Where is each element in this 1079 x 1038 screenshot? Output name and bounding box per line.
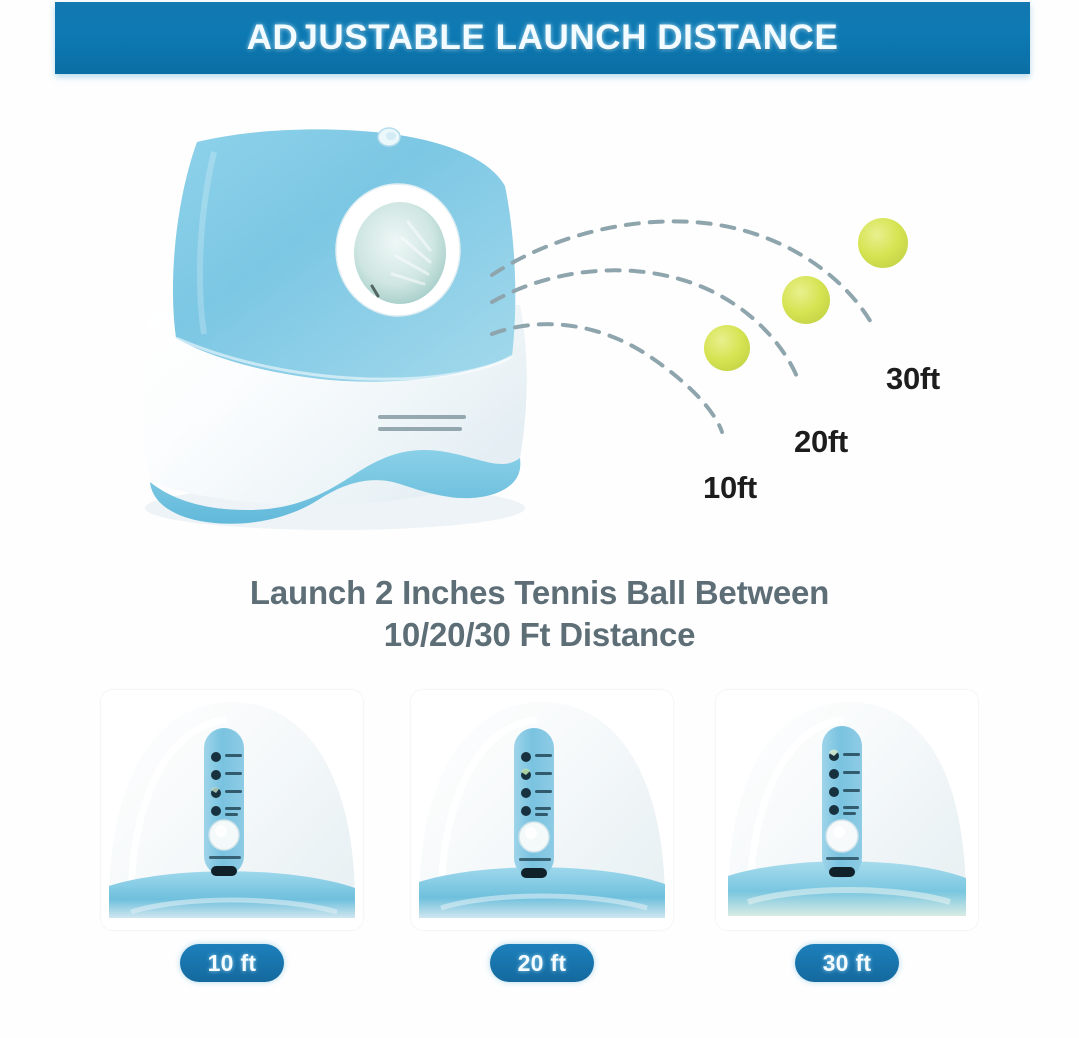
- thumbnail-badge-30ft: 30 ft: [795, 944, 899, 982]
- distance-thumbnail-row: 10 ft: [0, 690, 1079, 1000]
- caption-line-1: Launch 2 Inches Tennis Ball Between: [0, 572, 1079, 614]
- thumbnail-card-10ft[interactable]: 10 ft: [101, 690, 363, 982]
- thumbnail-badge-10ft: 10 ft: [180, 944, 284, 982]
- tennis-ball-30ft: [858, 218, 908, 268]
- usb-c-port-30ft: [829, 867, 855, 877]
- thumbnail-badge-label-10ft: 10 ft: [208, 950, 257, 977]
- thumbnail-image-20ft: [411, 690, 673, 930]
- launcher-diagram-svg: [0, 90, 1079, 560]
- launch-port-bore: [354, 202, 446, 304]
- device-rear-view-30ft: [716, 690, 978, 930]
- distance-label-20ft: 20ft: [794, 424, 848, 460]
- distance-label-30ft: 30ft: [886, 361, 940, 397]
- usb-c-port-10ft: [211, 866, 237, 876]
- caption-block: Launch 2 Inches Tennis Ball Between 10/2…: [0, 572, 1079, 656]
- tennis-ball-20ft: [782, 276, 830, 324]
- thumbnail-card-30ft[interactable]: 30 ft: [716, 690, 978, 982]
- thumbnail-image-10ft: [101, 690, 363, 930]
- tennis-ball-10ft: [704, 325, 750, 371]
- caption-line-2: 10/20/30 Ft Distance: [0, 614, 1079, 656]
- thumbnail-image-30ft: [716, 690, 978, 930]
- header-banner: ADJUSTABLE LAUNCH DISTANCE: [55, 2, 1030, 74]
- tennis-balls: [704, 218, 908, 371]
- device-rear-view-20ft: [411, 690, 673, 930]
- thumbnail-badge-20ft: 20 ft: [490, 944, 594, 982]
- thumbnail-badge-label-20ft: 20 ft: [518, 950, 567, 977]
- distance-label-10ft: 10ft: [703, 470, 757, 506]
- thumbnail-badge-label-30ft: 30 ft: [823, 950, 872, 977]
- page-title: ADJUSTABLE LAUNCH DISTANCE: [247, 18, 839, 58]
- device-rear-view-10ft: [101, 690, 363, 930]
- hero-illustration: 10ft 20ft 30ft: [0, 90, 1079, 560]
- thumbnail-card-20ft[interactable]: 20 ft: [411, 690, 673, 982]
- sensor-indicator-inner: [386, 132, 396, 140]
- trajectory-arcs: [492, 221, 872, 432]
- usb-c-port-20ft: [521, 868, 547, 878]
- ball-launcher-device: [142, 128, 526, 530]
